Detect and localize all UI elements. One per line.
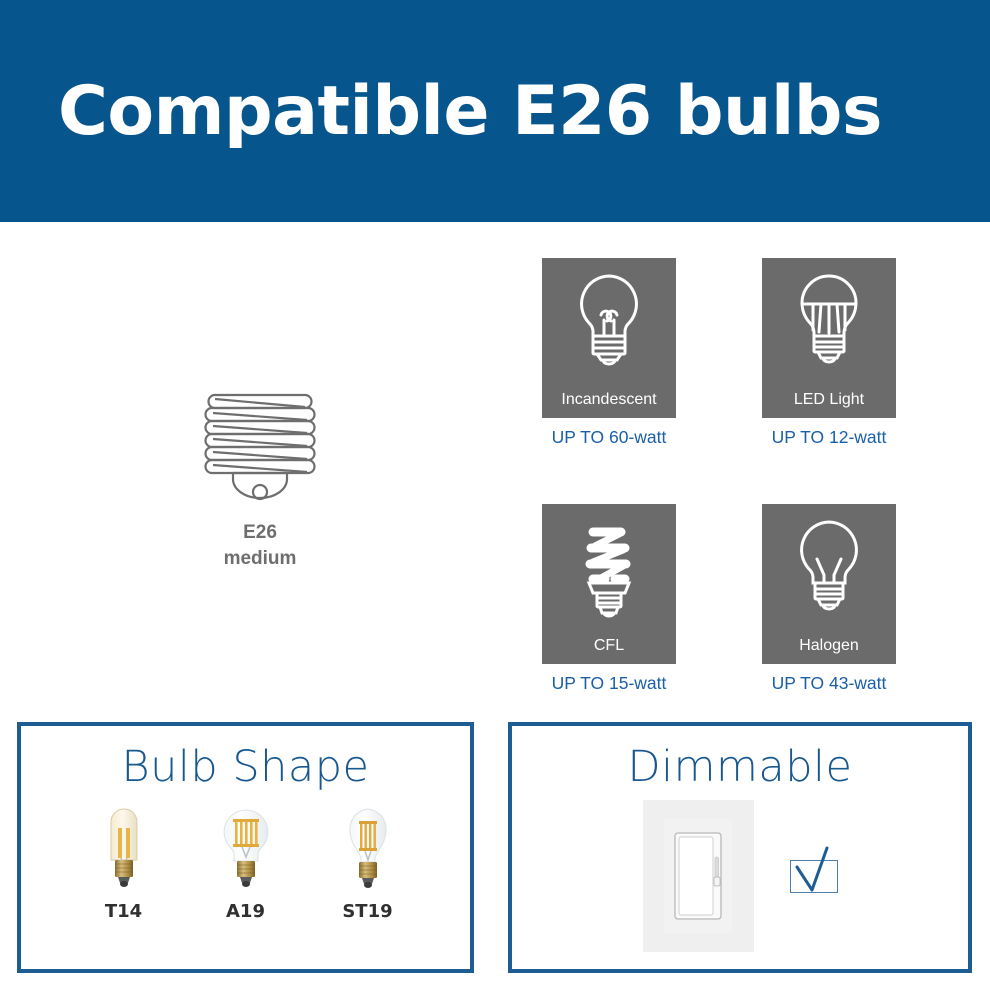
bulb-type-caption: UP TO 12-watt: [762, 427, 896, 448]
e26-label-line2: medium: [224, 548, 297, 569]
bulb-shape-row: T14: [21, 806, 470, 922]
a19-standard-bulb-icon: [218, 806, 274, 896]
bulb-type-tile: LED Light: [762, 258, 896, 418]
page-header: Compatible E26 bulbs: [0, 0, 990, 222]
bulb-type-label: CFL: [542, 637, 676, 655]
st19-edison-bulb-icon: [342, 806, 394, 896]
bulb-type-card-led[interactable]: LED Light UP TO 12-watt: [762, 258, 896, 448]
bulb-type-card-cfl[interactable]: CFL UP TO 15-watt: [542, 504, 676, 694]
bulb-type-tile: Halogen: [762, 504, 896, 664]
bulb-shape-item-t14[interactable]: T14: [83, 806, 165, 922]
bulb-type-caption: UP TO 43-watt: [762, 673, 896, 694]
cfl-bulb-icon: [559, 516, 659, 624]
e26-base-block: E26 medium: [140, 385, 380, 571]
halogen-bulb-icon: [779, 516, 879, 624]
dimmable-content-row: [512, 800, 968, 952]
bulb-shape-panel-title: Bulb Shape: [21, 742, 470, 792]
bulb-type-card-halogen[interactable]: Halogen UP TO 43-watt: [762, 504, 896, 694]
bulb-shape-label: A19: [205, 901, 287, 922]
bulb-type-row: CFL UP TO 15-watt: [542, 504, 902, 694]
page-title: Compatible E26 bulbs: [58, 72, 882, 151]
bulb-shape-label: T14: [83, 901, 165, 922]
bulb-type-label: Halogen: [762, 637, 896, 655]
bulb-type-label: LED Light: [762, 391, 896, 409]
e26-screw-base-icon: [185, 385, 335, 510]
dimmer-switch-icon: [662, 817, 734, 935]
bulb-type-card-grid: Incandescent UP TO 60-watt: [542, 258, 902, 694]
dimmable-panel: Dimmable: [508, 722, 972, 973]
bulb-shape-item-st19[interactable]: ST19: [327, 806, 409, 922]
e26-base-label: E26 medium: [140, 520, 380, 571]
bulb-shape-panel: Bulb Shape: [17, 722, 474, 973]
bulb-type-tile: Incandescent: [542, 258, 676, 418]
bulb-type-card-incandescent[interactable]: Incandescent UP TO 60-watt: [542, 258, 676, 448]
dimmable-panel-title: Dimmable: [512, 742, 968, 792]
incandescent-bulb-icon: [559, 270, 659, 378]
bulb-type-caption: UP TO 15-watt: [542, 673, 676, 694]
t14-tube-bulb-icon: [101, 806, 147, 896]
bulb-shape-item-a19[interactable]: A19: [205, 806, 287, 922]
bulb-type-caption: UP TO 60-watt: [542, 427, 676, 448]
bulb-type-tile: CFL: [542, 504, 676, 664]
dimmer-switch-photo: [643, 800, 754, 952]
e26-label-line1: E26: [243, 522, 277, 543]
dimmable-checkbox[interactable]: [790, 860, 838, 893]
bulb-shape-label: ST19: [327, 901, 409, 922]
bulb-type-label: Incandescent: [542, 391, 676, 409]
checkmark-icon: [792, 846, 838, 894]
led-bulb-icon: [779, 270, 879, 378]
bulb-type-row: Incandescent UP TO 60-watt: [542, 258, 902, 448]
